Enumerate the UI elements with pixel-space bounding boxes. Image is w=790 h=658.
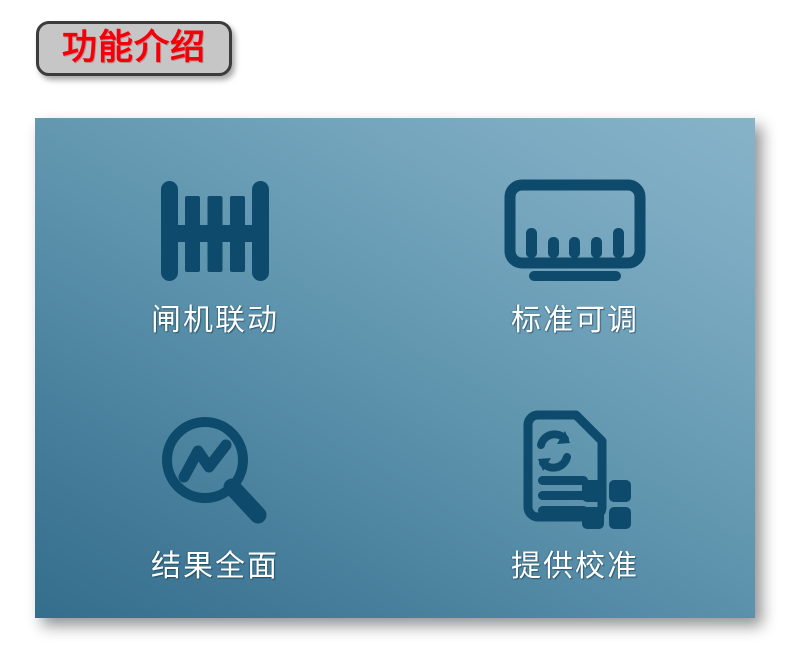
document-calibration-icon — [510, 412, 640, 530]
turnstile-gate-icon — [150, 172, 280, 290]
feature-item-calibration[interactable]: 提供校准 — [395, 368, 755, 618]
feature-item-gate-linkage[interactable]: 闸机联动 — [35, 118, 395, 368]
feature-label: 结果全面 — [151, 552, 279, 582]
feature-label: 标准可调 — [511, 306, 639, 336]
section-title-badge: 功能介绍 — [36, 21, 232, 76]
feature-item-adjustable-standard[interactable]: 标准可调 — [395, 118, 755, 368]
ruler-icon — [510, 172, 640, 290]
section-title-text: 功能介绍 — [62, 31, 206, 66]
feature-grid: 闸机联动 — [35, 118, 755, 618]
feature-label: 闸机联动 — [151, 306, 279, 336]
feature-panel: 闸机联动 — [35, 118, 755, 618]
magnifier-chart-icon — [150, 412, 280, 530]
feature-item-comprehensive-results[interactable]: 结果全面 — [35, 368, 395, 618]
feature-label: 提供校准 — [511, 552, 639, 582]
